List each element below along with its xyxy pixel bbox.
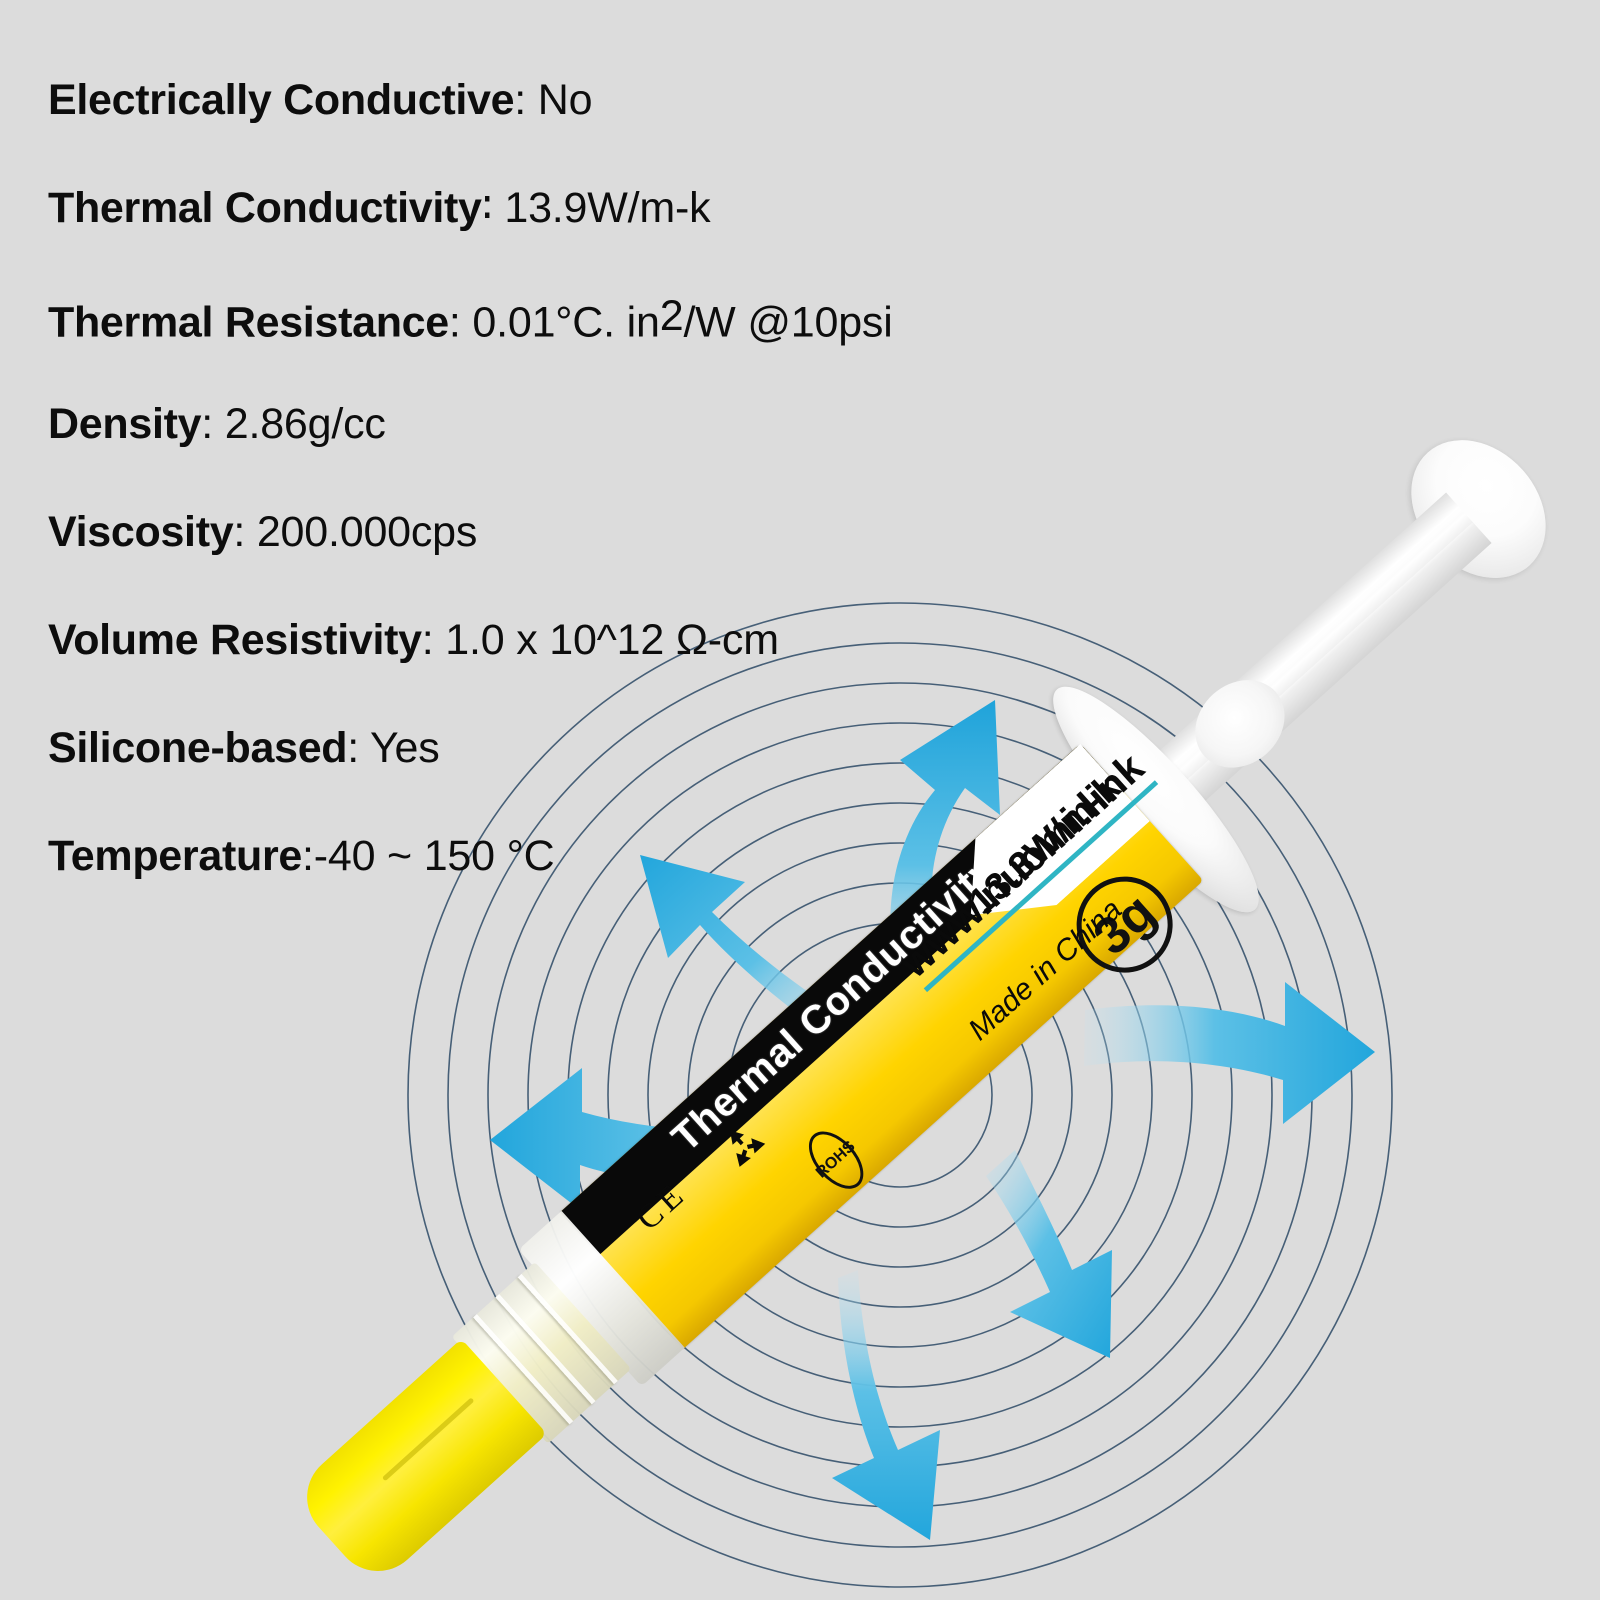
spec-separator: : [233,508,257,556]
spec-label: Thermal Conductivity [48,184,482,232]
spec-value-superscript: 2 [660,292,684,340]
spec-value: 0.01°C. in [472,298,659,346]
rohs-icon-text: ROHS [813,1138,859,1182]
spec-separator: : [514,76,538,124]
spec-row-volume-resistivity: Volume Resistivity: 1.0 x 10^12 Ω-cm [48,586,1168,694]
spec-value: 2.86g/cc [225,400,386,448]
spec-value: 200.000cps [257,508,477,556]
spec-value: Yes [370,724,440,772]
spec-separator: : [449,298,473,346]
spec-label: Silicone-based [48,724,347,772]
spec-label: Viscosity [48,508,233,556]
spec-row-temperature: Temperature:-40 ~ 150 °C [48,802,1168,910]
product-image-canvas: Thermal Conductivity: 13.3W/m-k 3g www.n… [0,0,1600,1600]
arrow-down [832,1270,940,1540]
spec-separator: : [422,616,446,664]
spec-label: Electrically Conductive [48,76,514,124]
spec-value-tail: /W @10psi [683,298,892,346]
spec-row-thermal-conductivity: Thermal Conductivity∶ 13.9W/m-k [48,154,1168,262]
spec-label: Thermal Resistance [48,298,449,346]
spec-label: Density [48,400,201,448]
spec-separator: ∶ [482,184,505,232]
spec-row-silicone-based: Silicone-based: Yes [48,694,1168,802]
spec-row-density: Density: 2.86g/cc [48,370,1168,478]
arrow-right [1084,982,1375,1124]
specification-list: Electrically Conductive: No Thermal Cond… [48,46,1168,910]
spec-label: Volume Resistivity [48,616,422,664]
spec-row-viscosity: Viscosity: 200.000cps [48,478,1168,586]
spec-value: 1.0 x 10^12 Ω-cm [445,616,779,664]
spec-row-thermal-resistance: Thermal Resistance: 0.01°C. in2/W @10psi [48,262,1168,370]
spec-separator: : [201,400,225,448]
spec-value: No [538,76,593,124]
spec-row-electrically-conductive: Electrically Conductive: No [48,46,1168,154]
spec-separator: : [302,832,314,880]
spec-value: 13.9W/m-k [504,184,710,232]
spec-label: Temperature [48,832,302,880]
spec-value: -40 ~ 150 °C [314,832,555,880]
spec-separator: : [347,724,370,772]
